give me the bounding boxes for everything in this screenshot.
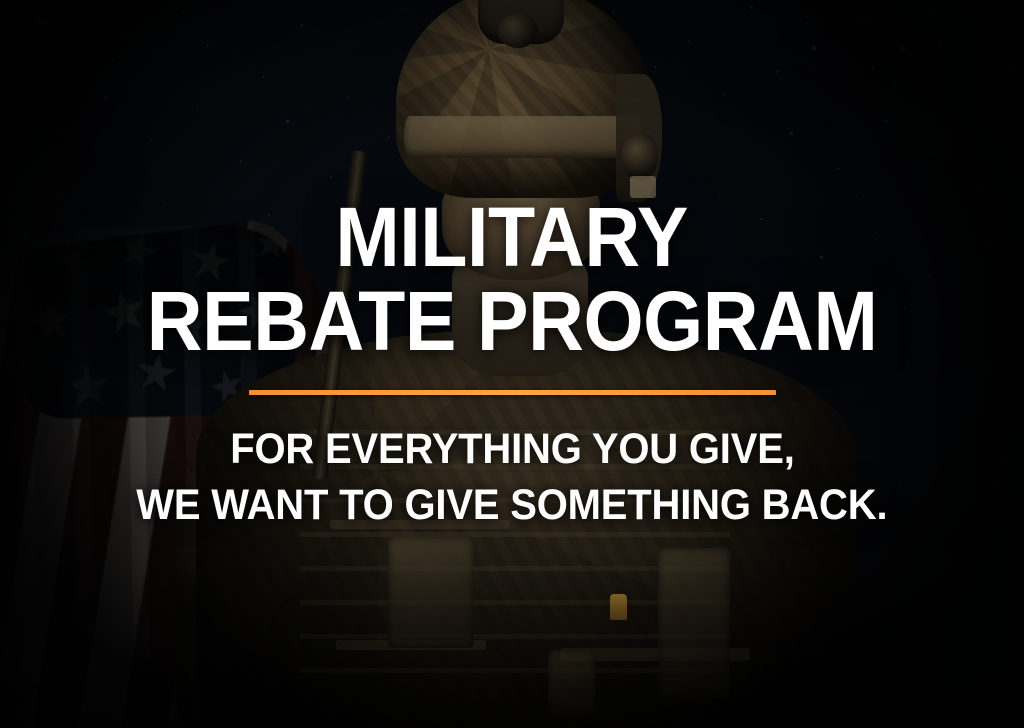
scene-vignette — [0, 0, 1024, 728]
military-rebate-hero-banner: MILITARY REBATE PROGRAM FOR EVERYTHING Y… — [0, 0, 1024, 728]
